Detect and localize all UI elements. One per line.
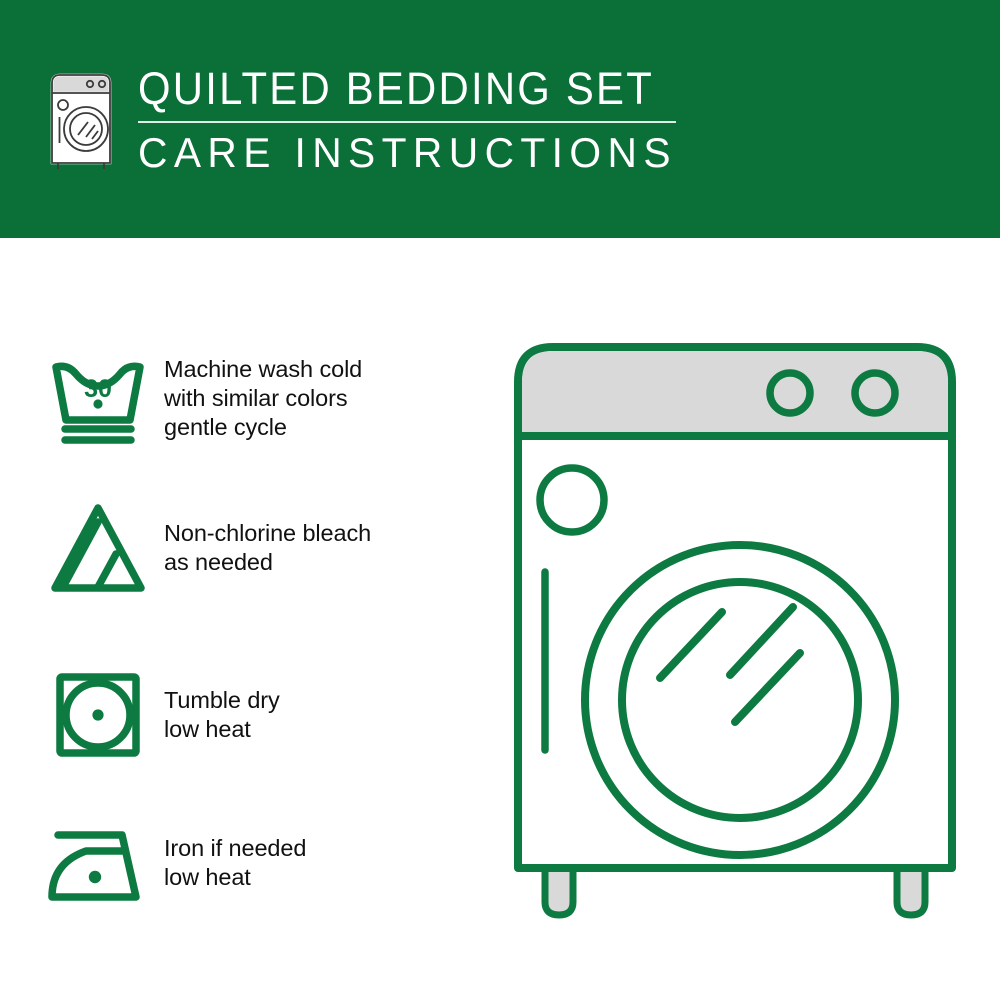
care-text-wash-line-2: with similar colors [164, 384, 362, 413]
care-text-wash: Machine wash cold with similar colors ge… [164, 355, 362, 442]
care-text-bleach-line-2: as needed [164, 548, 371, 577]
iron-low-heat-icon [46, 811, 164, 915]
header-title-block: QUILTED BEDDING SET CARE INSTRUCTIONS [138, 64, 694, 177]
care-text-dry-line-2: low heat [164, 715, 280, 744]
care-text-iron: Iron if needed low heat [164, 834, 306, 892]
title-divider-rule [138, 121, 676, 123]
care-text-dry-line-1: Tumble dry [164, 686, 280, 715]
care-text-tumble-dry: Tumble dry low heat [164, 686, 280, 744]
care-text-wash-line-1: Machine wash cold [164, 355, 362, 384]
care-row-tumble-dry: Tumble dry low heat [46, 663, 486, 767]
non-chlorine-bleach-triangle-icon [46, 496, 164, 600]
machine-legs [545, 865, 925, 915]
care-row-bleach: Non-chlorine bleach as needed [46, 496, 486, 600]
care-text-wash-line-3: gentle cycle [164, 413, 362, 442]
care-row-iron: Iron if needed low heat [46, 811, 486, 915]
page-title-primary: QUILTED BEDDING SET [138, 64, 655, 114]
tumble-dry-low-icon [46, 663, 164, 767]
care-row-wash: 30 Machine wash cold with similar colors… [46, 346, 486, 450]
care-instructions-infographic: QUILTED BEDDING SET CARE INSTRUCTIONS 30 [0, 0, 1000, 1000]
header-content: QUILTED BEDDING SET CARE INSTRUCTIONS [44, 64, 694, 177]
care-text-iron-line-1: Iron if needed [164, 834, 306, 863]
care-text-bleach-line-1: Non-chlorine bleach [164, 519, 371, 548]
front-load-washing-machine-illustration [490, 330, 980, 940]
wash-tub-30-icon: 30 [46, 346, 164, 450]
care-text-bleach: Non-chlorine bleach as needed [164, 519, 371, 577]
wash-temperature-label: 30 [84, 375, 112, 403]
care-text-iron-line-2: low heat [164, 863, 306, 892]
page-title-secondary: CARE INSTRUCTIONS [138, 129, 677, 177]
washing-machine-icon [44, 69, 118, 173]
care-instruction-list: 30 Machine wash cold with similar colors… [0, 238, 500, 1000]
control-panel [522, 351, 948, 436]
header-banner: QUILTED BEDDING SET CARE INSTRUCTIONS [0, 0, 1000, 238]
